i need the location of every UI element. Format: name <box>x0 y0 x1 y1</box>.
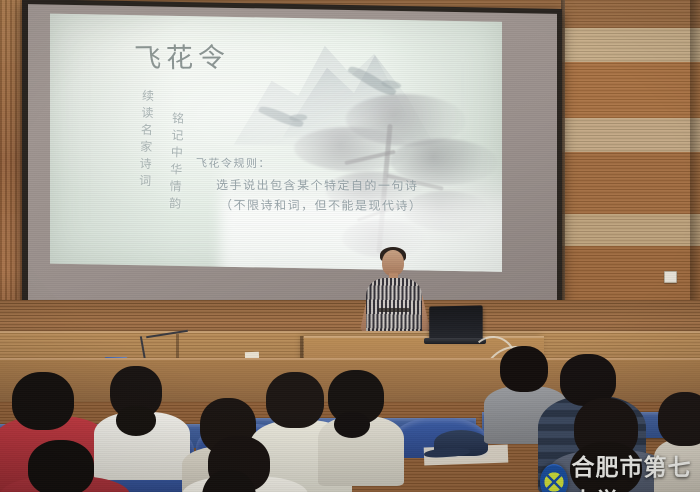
slide-vertical-column-2: 铭记中华情韵 <box>166 111 187 214</box>
projected-slide: 飞花令 续读名家诗词 铭记中华情韵 飞花令规则： 选手说出包含某个特定自的一句诗… <box>50 14 502 272</box>
watermark-text: 合肥市第七中学 <box>572 448 700 492</box>
slide-rules-line-2: （不限诗和词，但不能是现代诗） <box>220 196 423 214</box>
laptop[interactable] <box>429 305 482 340</box>
slide-mist <box>220 157 502 272</box>
projection-screen-frame: 飞花令 续读名家诗词 铭记中华情韵 飞花令规则： 选手说出包含某个特定自的一句诗… <box>22 0 562 316</box>
wall-switch-plate[interactable] <box>664 271 677 283</box>
slide-title: 飞花令 <box>134 36 231 76</box>
slide-rules-heading: 飞花令规则： <box>196 155 271 171</box>
school-emblem-icon <box>540 464 568 492</box>
slide-rules-line-1: 选手说出包含某个特定自的一句诗 <box>216 176 419 194</box>
watermark: 合肥市第七中学 <box>540 448 700 492</box>
classroom-photo-scene: 飞花令 续读名家诗词 铭记中华情韵 飞花令规则： 选手说出包含某个特定自的一句诗… <box>0 0 700 492</box>
teacher-belt <box>378 308 410 312</box>
slide-vertical-column-1: 续读名家诗词 <box>136 89 157 192</box>
